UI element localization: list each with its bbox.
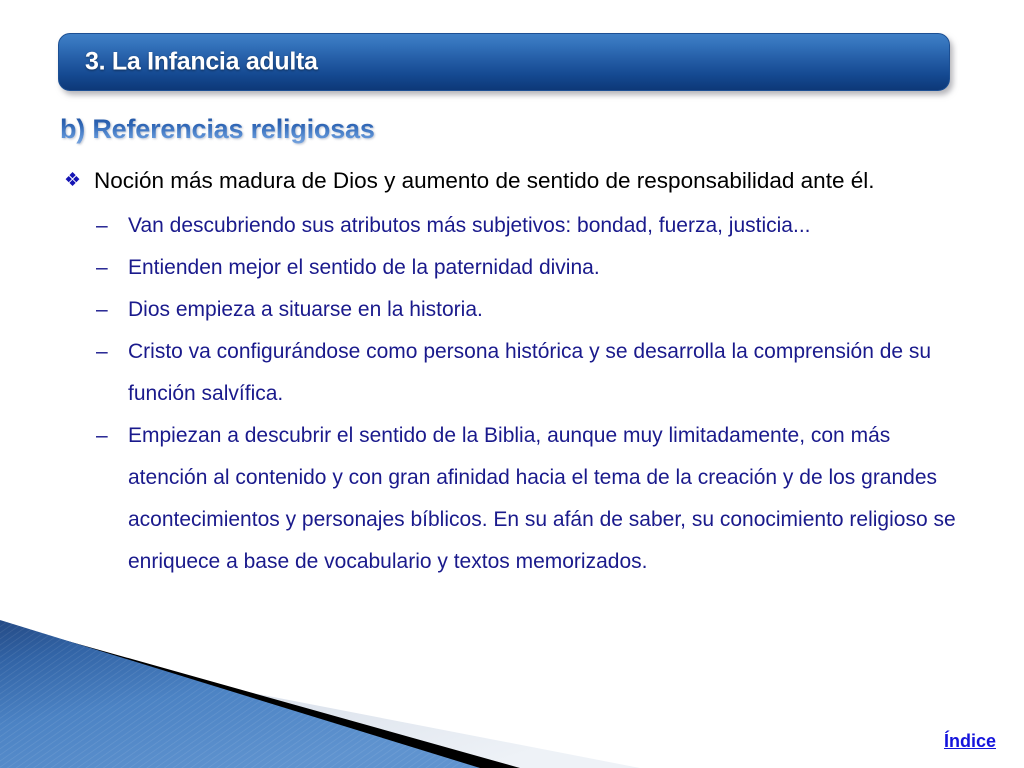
- bullet-level2: – Dios empieza a situarse en la historia…: [0, 289, 1024, 331]
- corner-decoration-graphic: [0, 608, 1024, 768]
- indice-link[interactable]: Índice: [944, 731, 996, 752]
- bullet-level2: – Empiezan a descubrir el sentido de la …: [0, 415, 1024, 583]
- bullet-level2: – Cristo va configurándose como persona …: [0, 331, 1024, 415]
- bullet-text: Cristo va configurándose como persona hi…: [128, 340, 931, 405]
- bullet-level2: – Entienden mejor el sentido de la pater…: [0, 247, 1024, 289]
- decoration-gray-wedge: [0, 644, 640, 768]
- bullet-text: Noción más madura de Dios y aumento de s…: [94, 168, 874, 193]
- slide-content: ❖ Noción más madura de Dios y aumento de…: [0, 163, 1024, 583]
- slide-title: 3. La Infancia adulta: [85, 48, 318, 77]
- slide-subtitle: b) Referencias religiosas: [60, 114, 375, 145]
- dash-bullet-icon: –: [96, 331, 108, 373]
- bullet-text: Van descubriendo sus atributos más subje…: [128, 214, 811, 237]
- decoration-blue-triangle-hatch: [0, 620, 480, 768]
- dash-bullet-icon: –: [96, 247, 108, 289]
- decoration-blue-triangle: [0, 620, 480, 768]
- dash-bullet-icon: –: [96, 205, 108, 247]
- slide-canvas: 3. La Infancia adulta b) Referencias rel…: [0, 0, 1024, 768]
- bullet-text: Dios empieza a situarse en la historia.: [128, 298, 483, 321]
- bullet-text: Empiezan a descubrir el sentido de la Bi…: [128, 424, 956, 573]
- dash-bullet-icon: –: [96, 289, 108, 331]
- bullet-level1: ❖ Noción más madura de Dios y aumento de…: [0, 163, 1024, 199]
- dash-bullet-icon: –: [96, 415, 108, 457]
- bullet-level2: – Van descubriendo sus atributos más sub…: [0, 205, 1024, 247]
- slide-title-bar: 3. La Infancia adulta: [58, 33, 950, 91]
- bullet-text: Entienden mejor el sentido de la paterni…: [128, 256, 600, 279]
- diamond-bullet-icon: ❖: [64, 163, 81, 199]
- decoration-black-stripe: [0, 622, 520, 768]
